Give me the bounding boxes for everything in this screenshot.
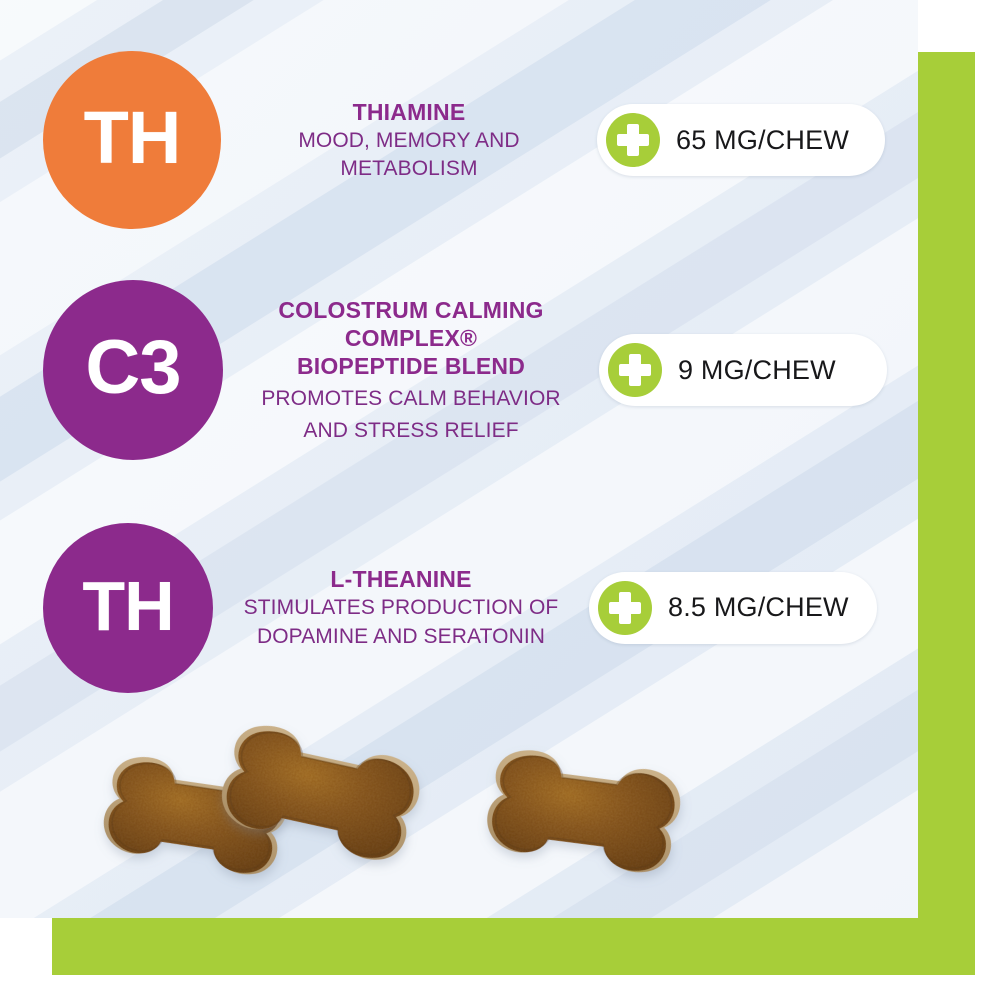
badge-label: TH xyxy=(84,101,181,175)
dosage-value: 8.5 MG/CHEW xyxy=(668,592,849,623)
dosage-pill-thiamine: 65 MG/CHEW xyxy=(597,104,885,176)
ingredient-name-line-3: BIOPEPTIDE BLEND xyxy=(241,352,581,380)
plus-icon xyxy=(598,581,652,635)
ingredient-description-line-2: AND STRESS RELIEF xyxy=(241,418,581,444)
badge-label: C3 xyxy=(85,330,180,406)
ingredient-description-line-2: METABOLISM xyxy=(239,156,579,182)
accent-bar-right xyxy=(918,52,975,975)
ingredient-name-line-1: COLOSTRUM CALMING xyxy=(241,296,581,324)
plus-icon xyxy=(608,343,662,397)
badge-label: TH xyxy=(82,571,173,641)
ingredient-description-line-1: PROMOTES CALM BEHAVIOR xyxy=(241,386,581,412)
infographic-panel: TH THIAMINE MOOD, MEMORY AND METABOLISM … xyxy=(0,0,1000,1000)
dosage-value: 65 MG/CHEW xyxy=(676,125,849,156)
dosage-pill-l-theanine: 8.5 MG/CHEW xyxy=(589,572,877,644)
ingredient-text-block: L-THEANINE STIMULATES PRODUCTION OF DOPA… xyxy=(231,565,571,650)
ingredient-text-block: THIAMINE MOOD, MEMORY AND METABOLISM xyxy=(239,98,579,183)
badge-circle-th-purple: TH xyxy=(43,523,213,693)
ingredient-text-block: COLOSTRUM CALMING COMPLEX® BIOPEPTIDE BL… xyxy=(241,296,581,445)
content-panel: TH THIAMINE MOOD, MEMORY AND METABOLISM … xyxy=(0,0,918,918)
chew-3 xyxy=(482,741,686,881)
plus-icon xyxy=(606,113,660,167)
ingredient-description-line-2: DOPAMINE AND SERATONIN xyxy=(231,624,571,650)
chew-illustrations xyxy=(0,690,918,918)
ingredient-row-colostrum: C3 COLOSTRUM CALMING COMPLEX® BIOPEPTIDE… xyxy=(0,265,918,475)
accent-bar-bottom xyxy=(52,918,975,975)
ingredient-row-thiamine: TH THIAMINE MOOD, MEMORY AND METABOLISM … xyxy=(0,40,918,240)
ingredient-name: L-THEANINE xyxy=(231,565,571,593)
badge-circle-c3-purple: C3 xyxy=(43,280,223,460)
product-chews-image xyxy=(0,690,918,918)
badge-circle-th-orange: TH xyxy=(43,51,221,229)
ingredient-row-l-theanine: TH L-THEANINE STIMULATES PRODUCTION OF D… xyxy=(0,515,918,700)
dosage-value: 9 MG/CHEW xyxy=(678,355,836,386)
ingredient-name: THIAMINE xyxy=(239,98,579,126)
ingredient-description-line-1: MOOD, MEMORY AND xyxy=(239,128,579,154)
dosage-pill-colostrum: 9 MG/CHEW xyxy=(599,334,887,406)
ingredient-name-line-2: COMPLEX® xyxy=(241,324,581,352)
ingredient-description-line-1: STIMULATES PRODUCTION OF xyxy=(231,595,571,621)
